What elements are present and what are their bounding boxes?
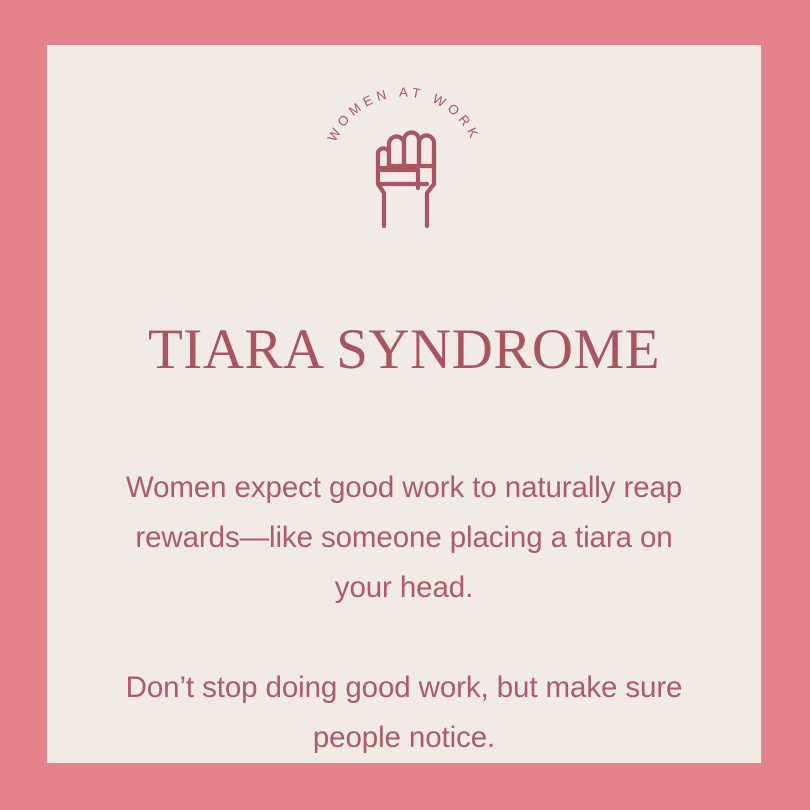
logo: WOMEN AT WORK [314, 92, 494, 232]
body-paragraph-1: Women expect good work to naturally reap… [124, 463, 684, 613]
logo-svg: WOMEN AT WORK [314, 92, 494, 232]
raised-fist-icon [378, 133, 434, 227]
poster-card: WOMEN AT WORK [47, 45, 761, 763]
body-copy: Women expect good work to naturally reap… [124, 463, 684, 763]
body-paragraph-2: Don’t stop doing good work, but make sur… [124, 663, 684, 763]
poster-frame: WOMEN AT WORK [0, 0, 810, 810]
page-title: TIARA SYNDROME [148, 321, 660, 378]
